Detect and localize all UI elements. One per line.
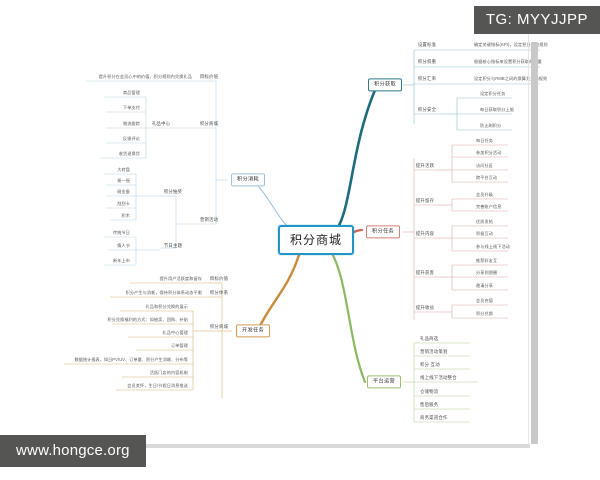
leaf-node[interactable]: 跨平台互动 (474, 175, 499, 181)
sub-node[interactable]: 营销活动策划 (418, 349, 450, 355)
sub-node[interactable]: 目标价值 (198, 74, 220, 80)
sub-node[interactable]: 目标价值 (208, 276, 230, 282)
sub-node[interactable]: 积分体系 (208, 290, 230, 296)
leaf-node[interactable]: 商品管理 (121, 90, 142, 96)
sub-node[interactable]: 礼品商选 (418, 336, 440, 342)
leaf-node[interactable]: 积分产生与消耗，保持积分体系动态平衡 (124, 290, 204, 296)
leaf-node[interactable]: 会员关怀，生日/节假日消息推送 (125, 383, 190, 389)
root-node[interactable]: 积分商城 (278, 225, 354, 255)
sub-node[interactable]: 提升留存 (414, 198, 436, 204)
leaf-node[interactable]: 会员升级 (474, 192, 495, 198)
leaf-node[interactable]: 积木 (120, 213, 133, 219)
leaf-node[interactable]: 邀请分享 (474, 283, 495, 289)
sub-node[interactable]: 提升收益 (414, 305, 436, 311)
leaf-node[interactable]: 提升用户活跃度和留存 (158, 276, 204, 282)
leaf-node[interactable]: 积极互动 (474, 231, 495, 237)
branch-jifen-huoqu[interactable]: 积分获取 (368, 78, 402, 91)
sub-node[interactable]: 线上线下活动整合 (418, 375, 459, 381)
leaf-node[interactable]: 设定积分任务 (478, 91, 507, 97)
sub-node[interactable]: 仓储物流 (418, 389, 440, 395)
leaf-node[interactable]: 确定关键指标(KPI)，设定积分获取规则 (472, 42, 550, 48)
sub-node[interactable]: 积分权重 (416, 59, 438, 65)
leaf-node[interactable]: 摇一摇 (115, 178, 132, 184)
leaf-node[interactable]: 积分兑换福利的方式：如抽奖、团购、补贴 (105, 317, 190, 323)
vertical-scrollbar[interactable] (531, 42, 538, 444)
sub-node[interactable]: 积分商城 (198, 121, 220, 127)
leaf-node[interactable]: 参加积分活动 (474, 150, 503, 156)
sub-node[interactable]: 提升内容 (414, 231, 436, 237)
leaf-node[interactable]: 刮刮卡 (115, 201, 132, 207)
leaf-node[interactable]: 下单支付 (121, 105, 142, 111)
leaf-node[interactable]: 推荐好友互 (474, 258, 499, 264)
leaf-node[interactable]: 防止刷积分 (478, 123, 503, 129)
branch-jifen-renwu[interactable]: 积分任务 (366, 225, 400, 238)
leaf-node[interactable]: 大转盘 (115, 167, 132, 173)
mindmap-stage: 积分商城 积分获取 设置标准 确定关键指标(KPI)，设定积分获取规则 积分权重… (0, 0, 600, 480)
leaf-node[interactable]: 反馈评论 (121, 136, 142, 142)
leaf-node[interactable]: 每日任务 (474, 138, 495, 144)
sub-node[interactable]: 售后服务 (418, 402, 440, 408)
tg-watermark-badge: TG: MYYJJPP (474, 6, 600, 34)
leaf-node[interactable]: 参与线上线下活动 (474, 244, 512, 250)
sub-node[interactable]: 积分汇率 (416, 76, 438, 82)
branch-kaifa-renwu[interactable]: 开发任务 (236, 324, 270, 337)
branch-pingtai-yunying[interactable]: 平台运营 (367, 375, 401, 388)
sub-node[interactable]: 提升获客 (414, 270, 436, 276)
leaf-node[interactable]: 会员充值 (474, 298, 495, 304)
leaf-node[interactable]: 物流跟踪 (121, 121, 142, 127)
sub-node[interactable]: 积分安全 (416, 107, 438, 113)
leaf-node[interactable]: 礼品和积分兑换的展示 (144, 304, 190, 310)
sub-node[interactable]: 营销活动 (198, 217, 220, 223)
leaf-node[interactable]: 砸金蛋 (115, 189, 132, 195)
sub-node[interactable]: 提升活跃 (414, 163, 436, 169)
group-node[interactable]: 礼品中心 (150, 121, 172, 127)
url-watermark-badge: www.hongce.org (0, 435, 146, 467)
leaf-node[interactable]: 情人节 (115, 243, 132, 249)
group-node[interactable]: 节日主题 (162, 243, 184, 249)
sub-node[interactable]: 设置标准 (416, 42, 438, 48)
leaf-node[interactable]: 优质发帖 (474, 219, 495, 225)
leaf-node[interactable]: 完善账户信息 (474, 204, 503, 210)
sub-node[interactable]: 积分 互动 (418, 362, 442, 368)
branch-jifen-xiaohao[interactable]: 积分消耗 (231, 173, 265, 186)
leaf-node[interactable]: 订单管理 (169, 343, 190, 349)
leaf-node[interactable]: 活跃门店的内容机制 (148, 370, 190, 376)
leaf-node[interactable]: 访问社区 (474, 163, 495, 169)
leaf-node[interactable]: 分享到朋圈 (474, 270, 499, 276)
leaf-node[interactable]: 数据统计报表，如日PV/UV、订单量、积分产生消耗、分布等 (73, 357, 190, 363)
leaf-node[interactable]: 提升积分在会员心中的价值，积分规则内兑换礼品 (97, 74, 194, 80)
leaf-node[interactable]: 收货退换货 (117, 151, 142, 157)
leaf-node[interactable]: 每日获取积分上限 (478, 107, 516, 113)
leaf-node[interactable]: 积分兑换 (474, 311, 495, 317)
group-node[interactable]: 积分抽奖 (162, 189, 184, 195)
leaf-node[interactable]: 新年上市 (111, 258, 132, 264)
sub-node[interactable]: 商务渠道合作 (418, 415, 450, 421)
leaf-node[interactable]: 礼品中心管理 (161, 330, 190, 336)
sub-node[interactable]: 积分商城 (208, 324, 230, 330)
leaf-node[interactable]: 传统节日 (111, 230, 132, 236)
